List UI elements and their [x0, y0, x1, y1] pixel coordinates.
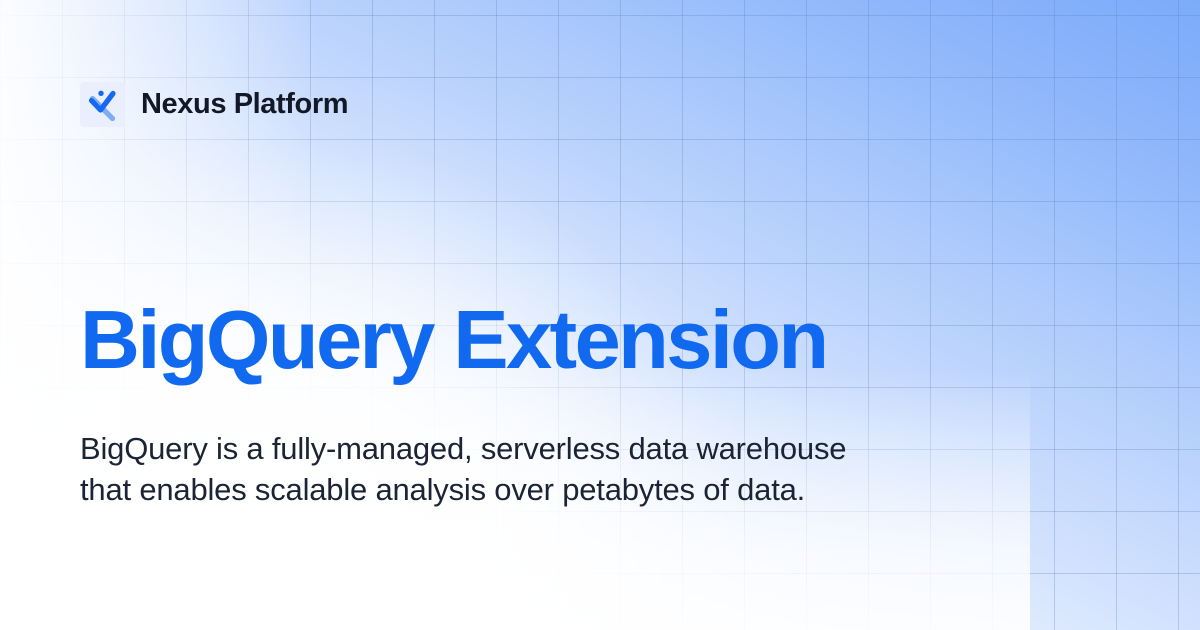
- page-title: BigQuery Extension: [80, 296, 826, 383]
- og-banner-card: Nexus Platform BigQuery Extension BigQue…: [0, 0, 1200, 630]
- page-description: BigQuery is a fully-managed, serverless …: [80, 428, 870, 510]
- brand-logo-badge: [80, 82, 125, 127]
- nexus-x-mark-icon: [86, 88, 119, 121]
- brand-name-label: Nexus Platform: [141, 90, 348, 119]
- banner-content: Nexus Platform BigQuery Extension BigQue…: [0, 0, 1200, 630]
- brand-row: Nexus Platform: [80, 82, 348, 127]
